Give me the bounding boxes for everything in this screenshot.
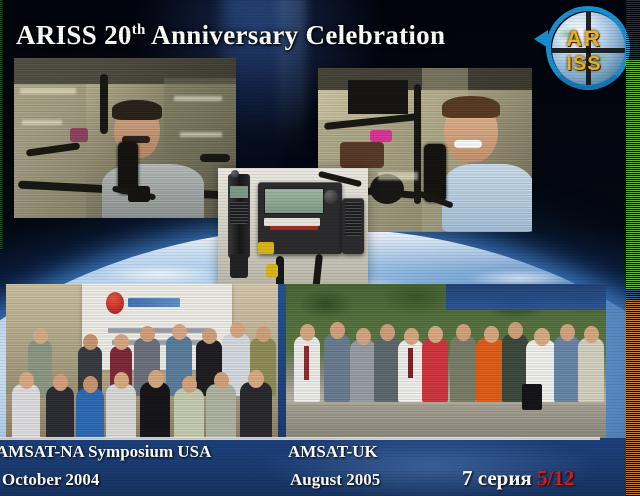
slide-canvas: ARISS 20th Anniversary Celebration AR IS… bbox=[0, 0, 640, 496]
title-ordinal-suffix: th bbox=[132, 22, 146, 38]
capture-artifact-left-edge bbox=[0, 0, 3, 250]
ariss-logo: AR ISS bbox=[536, 4, 632, 96]
capture-artifact-stripes bbox=[626, 0, 640, 496]
logo-text-ar: AR bbox=[536, 28, 632, 50]
photo-amsat-uk-group bbox=[286, 284, 606, 440]
caption-left-date: October 2004 bbox=[2, 470, 99, 490]
logo-text-iss: ISS bbox=[536, 54, 632, 74]
title-rest: Anniversary Celebration bbox=[146, 20, 446, 50]
series-label: 7 серия bbox=[462, 466, 532, 490]
title-main: ARISS 20 bbox=[16, 20, 132, 50]
photo-cosmonaut-left bbox=[14, 58, 236, 218]
caption-left-event: AMSAT-NA Symposium USA bbox=[0, 442, 211, 462]
page-number: 5/12 bbox=[537, 466, 574, 490]
page-title: ARISS 20th Anniversary Celebration bbox=[16, 20, 445, 51]
caption-right-event: AMSAT-UK bbox=[288, 442, 378, 462]
photo-divider bbox=[278, 284, 286, 440]
series-indicator: 7 серия 5/12 bbox=[462, 466, 574, 491]
caption-rule bbox=[0, 437, 600, 440]
photo-radio-equipment bbox=[218, 168, 368, 294]
caption-right-date: August 2005 bbox=[290, 470, 380, 490]
photo-amsat-na-group bbox=[6, 284, 278, 440]
